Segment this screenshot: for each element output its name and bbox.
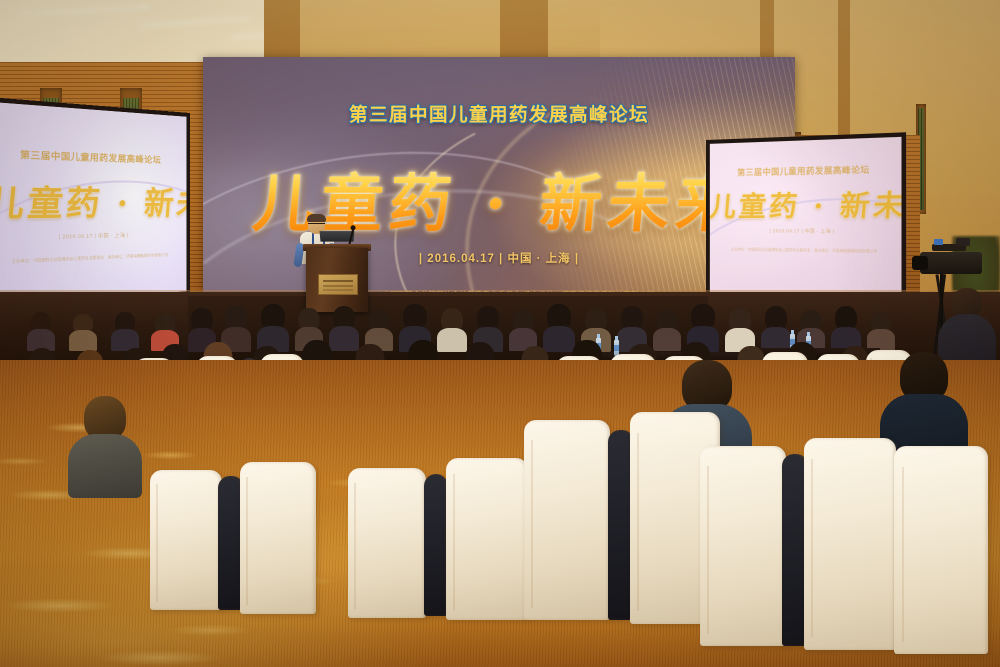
chair-cover bbox=[348, 468, 426, 618]
plaque-text-line bbox=[323, 280, 353, 282]
camera-tally-light bbox=[934, 239, 943, 245]
chair-cover bbox=[150, 470, 222, 610]
screen-right-frame bbox=[706, 132, 906, 308]
projection-screen-right: 第三届中国儿童用药发展高峰论坛 儿童药 · 新未来 | 2016.04.17 |… bbox=[706, 132, 906, 308]
plaque-text-line bbox=[323, 285, 353, 287]
chair-fold bbox=[246, 477, 248, 605]
screen-left-frame bbox=[0, 97, 190, 312]
conference-hall-photo: 第三届中国儿童用药发展高峰论坛 儿童药 · 新未来 | 2016.04.17 |… bbox=[0, 0, 1000, 667]
camera-body bbox=[920, 252, 982, 274]
chair-fold bbox=[707, 466, 709, 634]
audience-body bbox=[68, 434, 142, 498]
chair bbox=[700, 446, 786, 646]
chair-fold bbox=[811, 459, 813, 637]
chair bbox=[524, 420, 610, 620]
chair bbox=[348, 468, 426, 618]
speaker-hair bbox=[307, 214, 326, 222]
chair bbox=[150, 470, 222, 610]
chair-cover bbox=[524, 420, 610, 620]
camera-lens bbox=[912, 256, 928, 270]
chair-fold bbox=[637, 433, 639, 611]
chair-fold bbox=[156, 484, 158, 602]
chair bbox=[240, 462, 316, 614]
chair-cover bbox=[240, 462, 316, 614]
speaker-glasses-icon bbox=[308, 223, 325, 228]
chair-cover bbox=[804, 438, 896, 650]
chair-cover bbox=[894, 446, 988, 654]
chair-cover bbox=[446, 458, 528, 620]
chair bbox=[894, 446, 988, 654]
projection-screen-left: 第三届中国儿童用药发展高峰论坛 儿童药 · 新未来 | 2016.04.17 |… bbox=[0, 97, 190, 312]
chair-cover bbox=[700, 446, 786, 646]
banner-title: 第三届中国儿童用药发展高峰论坛 bbox=[203, 101, 795, 127]
chair bbox=[804, 438, 896, 650]
chair-fold bbox=[354, 483, 356, 609]
chair-fold bbox=[902, 467, 904, 642]
chair bbox=[424, 474, 448, 616]
chair-back-dark bbox=[424, 474, 448, 616]
chair bbox=[446, 458, 528, 620]
chair-fold bbox=[453, 474, 455, 610]
audience-member bbox=[68, 396, 140, 496]
chair-fold bbox=[531, 440, 533, 608]
camera-viewfinder bbox=[956, 238, 970, 246]
